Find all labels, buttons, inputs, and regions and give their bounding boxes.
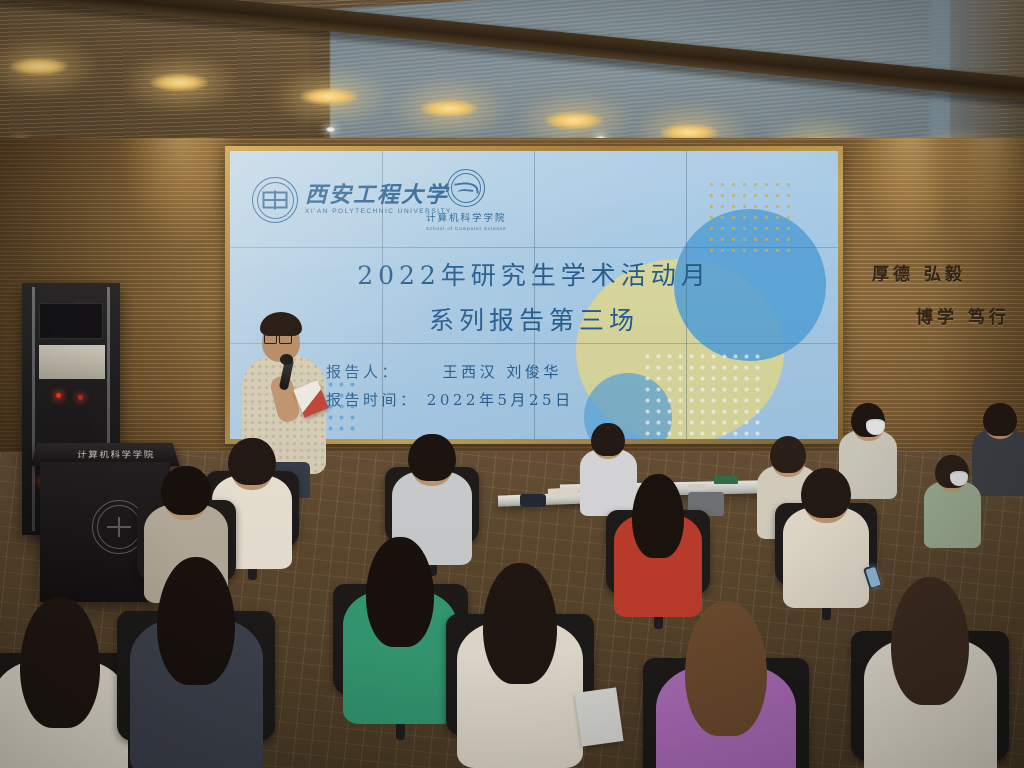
audience-hair: [770, 436, 807, 473]
audience-hair: [685, 601, 768, 736]
audience-hair: [161, 466, 210, 515]
audience-hair: [228, 438, 275, 485]
audience-hair: [632, 474, 684, 558]
audience-hair: [366, 537, 433, 647]
lecture-hall-photo: 厚德 弘毅 博学 笃行 西安工程大学 XI'AN POLYTECHNIC UNI…: [0, 0, 1024, 768]
audience-hair: [801, 468, 851, 518]
audience: [0, 0, 1024, 768]
audience-hair: [157, 557, 235, 685]
audience-hair: [20, 597, 101, 729]
audience-hair: [408, 434, 455, 481]
audience-hair: [591, 423, 625, 457]
face-mask: [950, 471, 969, 486]
handout-paper: [574, 687, 623, 746]
face-mask: [866, 419, 885, 434]
audience-hair: [983, 403, 1017, 437]
audience-hair: [891, 577, 969, 705]
audience-hair: [483, 563, 557, 684]
